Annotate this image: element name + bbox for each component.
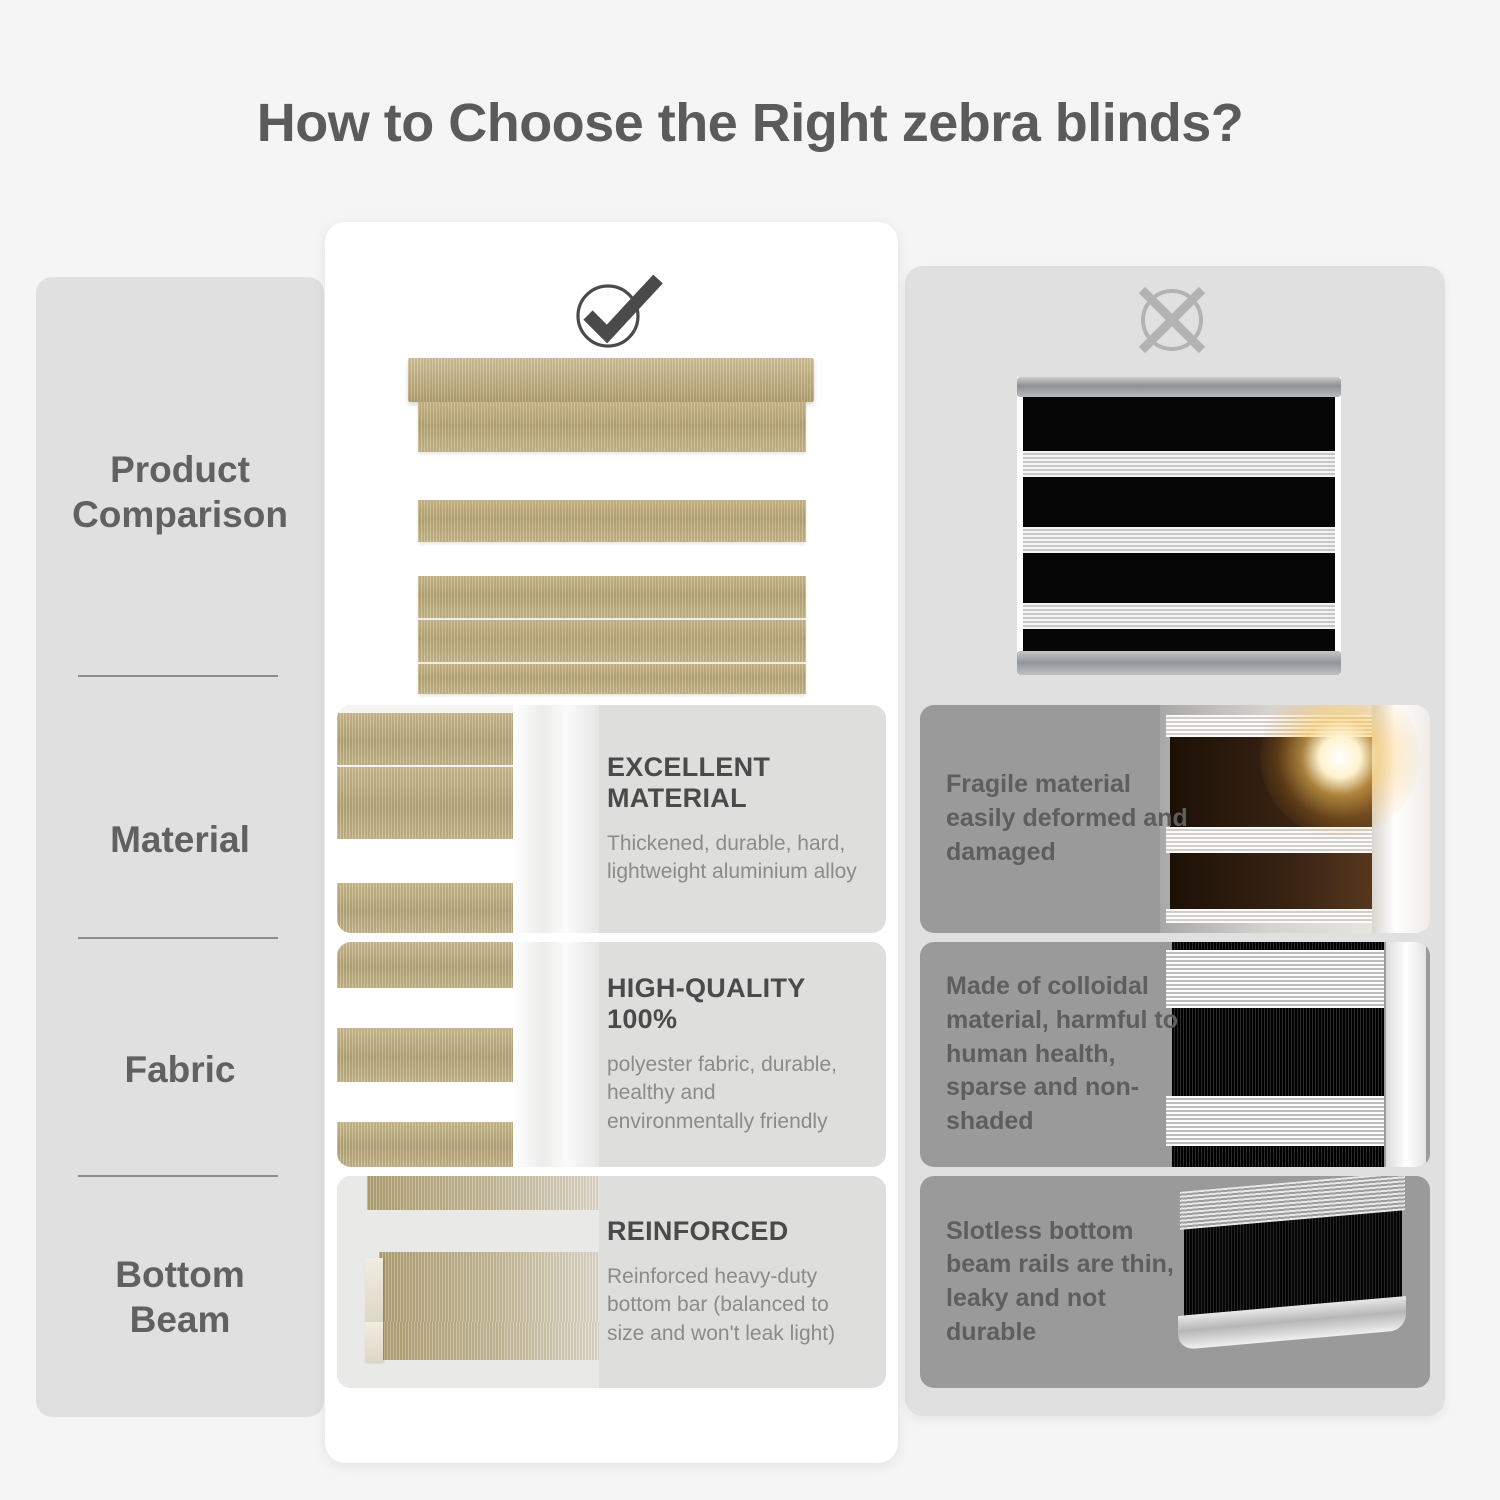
row-label-bottom-beam-line2: Beam [36,1297,324,1342]
black-band [1023,629,1335,651]
feature-card-bad-bottom-beam: Slotless bottom beam rails are thin, lea… [920,1176,1430,1388]
feature-image-bad-fabric [1160,942,1430,1167]
row-label-product-comparison-line1: Product [36,447,324,492]
blind-headrail [408,358,814,402]
sheer-band [1023,527,1335,553]
feature-description: polyester fabric, durable, healthy and e… [607,1051,862,1136]
blind-slat [418,576,806,618]
feature-description: Thickened, durable, hard, lightweight al… [607,830,862,887]
page-title: How to Choose the Right zebra blinds? [0,92,1500,154]
feature-title: REINFORCED [607,1216,862,1247]
sheer-band [1023,603,1335,629]
feature-text-bad-material: Fragile material easily deformed and dam… [938,705,1193,933]
feature-text-good-bottom-beam: REINFORCED Reinforced heavy-duty bottom … [593,1176,876,1388]
feature-title: EXCELLENT MATERIAL [607,752,862,814]
feature-card-bad-material: Fragile material easily deformed and dam… [920,705,1430,933]
row-label-product-comparison: Product Comparison [36,447,324,537]
feature-image-good-material [337,705,599,933]
cross-circle-icon [1120,282,1225,354]
feature-card-good-bottom-beam: REINFORCED Reinforced heavy-duty bottom … [337,1176,886,1388]
black-blind-bottom-rail [1017,651,1341,675]
black-band [1023,397,1335,451]
row-label-bottom-beam: Bottom Beam [36,1252,324,1342]
hero-image-bad-blind [1017,377,1341,675]
row-label-material: Material [36,817,324,862]
feature-text-good-material: EXCELLENT MATERIAL Thickened, durable, h… [593,705,876,933]
black-blind-fabric [1023,397,1335,651]
black-blind-body [1017,377,1341,675]
label-divider-3 [78,1175,278,1177]
feature-title: HIGH-QUALITY 100% [607,973,862,1035]
feature-text-bad-fabric: Made of colloidal material, harmful to h… [938,942,1193,1167]
feature-card-bad-fabric: Made of colloidal material, harmful to h… [920,942,1430,1167]
label-divider-2 [78,937,278,939]
row-label-fabric: Fabric [36,1047,324,1092]
black-blind-headrail [1017,377,1341,397]
feature-card-good-material: EXCELLENT MATERIAL Thickened, durable, h… [337,705,886,933]
blind-bottom-bar [418,664,806,694]
check-circle-icon [560,272,670,350]
feature-image-bad-material [1160,705,1430,933]
row-label-bottom-beam-line1: Bottom [36,1252,324,1297]
row-label-panel: Product Comparison Material Fabric Botto… [36,277,324,1417]
blind-slat [418,402,806,452]
feature-text-good-fabric: HIGH-QUALITY 100% polyester fabric, dura… [593,942,876,1167]
black-band [1023,477,1335,527]
feature-image-good-fabric [337,942,599,1167]
comparison-infographic: How to Choose the Right zebra blinds? Pr… [0,0,1500,1500]
feature-card-good-fabric: HIGH-QUALITY 100% polyester fabric, dura… [337,942,886,1167]
hero-image-good-blind [408,358,814,693]
feature-text-bad-bottom-beam: Slotless bottom beam rails are thin, lea… [938,1176,1193,1388]
black-band [1023,553,1335,603]
label-divider-1 [78,675,278,677]
row-label-product-comparison-line2: Comparison [36,492,324,537]
blind-slat [418,620,806,662]
feature-description: Reinforced heavy-duty bottom bar (balanc… [607,1263,862,1348]
feature-image-good-bottom-beam [337,1176,599,1388]
blind-slat [418,500,806,542]
sheer-band [1023,451,1335,477]
feature-image-bad-bottom-beam [1160,1176,1430,1388]
